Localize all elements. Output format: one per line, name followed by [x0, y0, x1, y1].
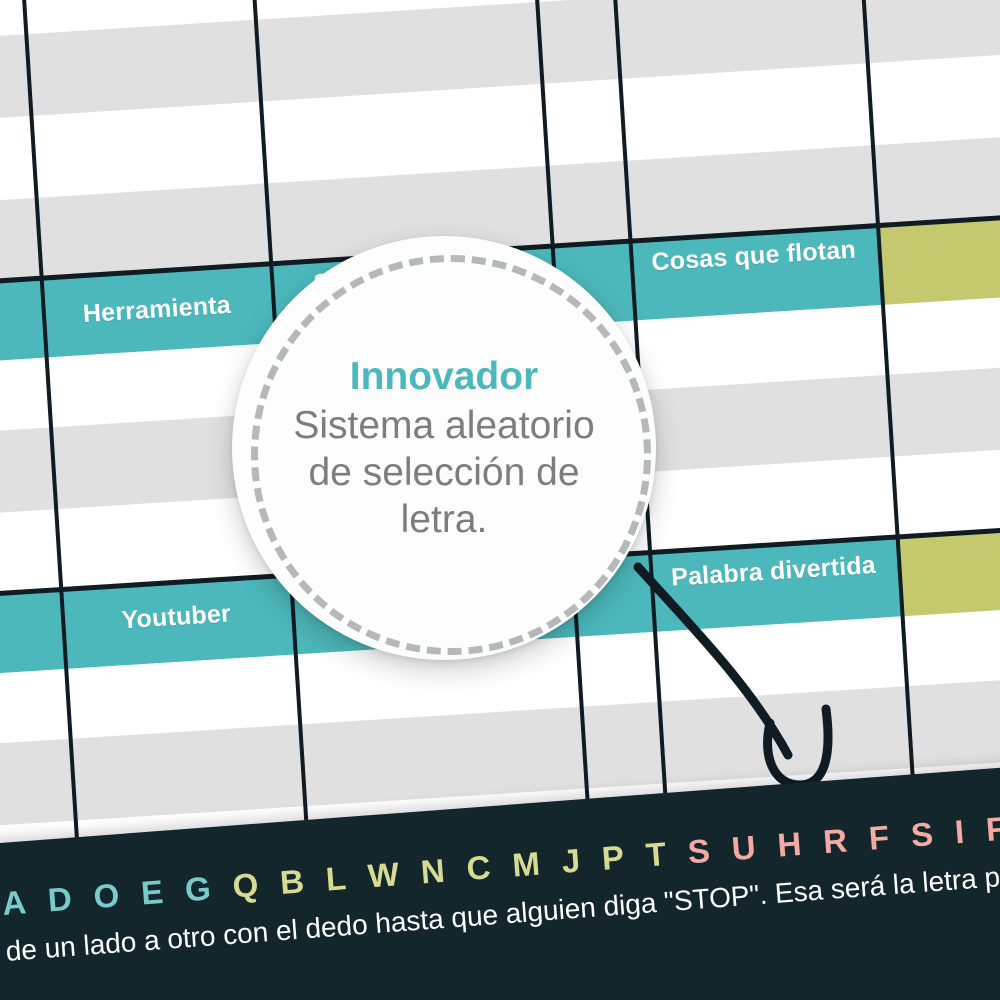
letter-J[interactable]: J: [560, 842, 581, 881]
curved-arrow-icon: [620, 545, 890, 815]
badge-title: Innovador: [279, 354, 609, 400]
letter-T[interactable]: T: [644, 835, 667, 874]
curved-arrow-svg: [620, 545, 890, 815]
letter-P[interactable]: P: [601, 838, 626, 878]
letter-I[interactable]: I: [953, 813, 965, 852]
badge-description: Sistema aleatorio de selección de letra.: [279, 402, 609, 543]
letter-O[interactable]: O: [92, 876, 120, 916]
badge-content: Innovador Sistema aleatorio de selección…: [279, 354, 609, 543]
letter-F[interactable]: F: [985, 810, 1000, 849]
info-badge-sticker[interactable]: Innovador Sistema aleatorio de selección…: [232, 236, 656, 660]
letter-E[interactable]: E: [140, 873, 165, 913]
letter-W[interactable]: W: [367, 855, 401, 895]
letter-D[interactable]: D: [47, 880, 74, 920]
poster-canvas: Herramienta Serie de dibujos animados Co…: [0, 0, 1000, 1000]
letter-H[interactable]: H: [776, 825, 803, 865]
letter-A[interactable]: A: [1, 883, 28, 923]
letter-S[interactable]: S: [910, 815, 935, 855]
letter-B[interactable]: B: [279, 862, 306, 902]
letter-M[interactable]: M: [511, 845, 541, 885]
letter-L[interactable]: L: [324, 859, 347, 898]
letter-F[interactable]: F: [868, 818, 891, 857]
letter-U[interactable]: U: [730, 828, 757, 868]
letter-S[interactable]: S: [687, 832, 712, 872]
letter-C[interactable]: C: [465, 848, 492, 888]
letter-N[interactable]: N: [420, 852, 447, 892]
letter-G[interactable]: G: [184, 869, 212, 909]
letter-Q[interactable]: Q: [231, 866, 259, 906]
letter-R[interactable]: R: [822, 822, 849, 862]
